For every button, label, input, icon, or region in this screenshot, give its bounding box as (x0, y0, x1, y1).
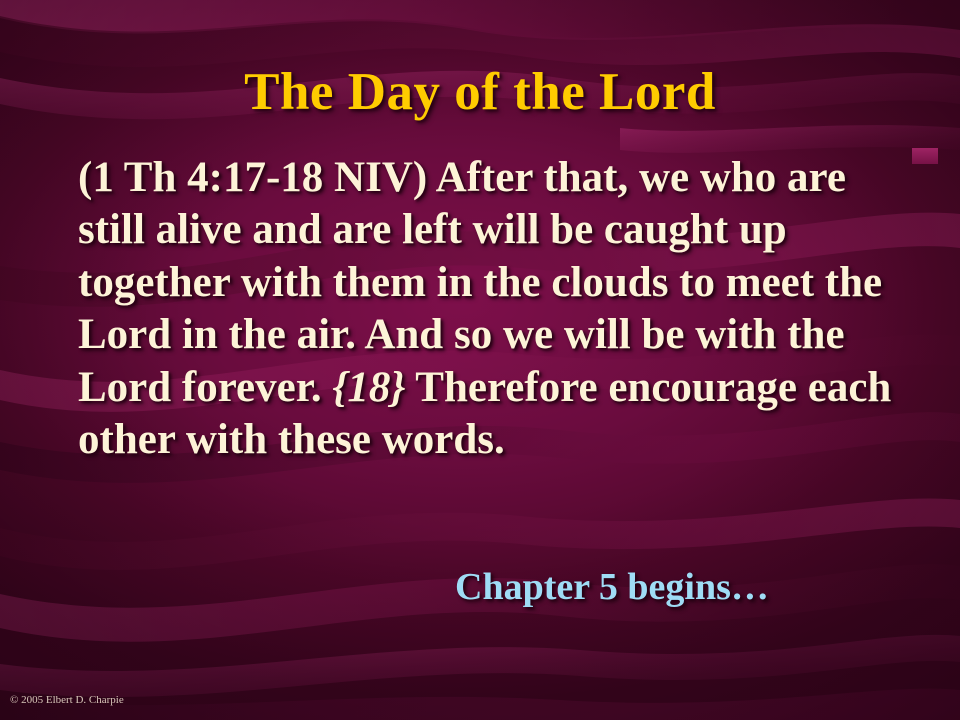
chapter-note: Chapter 5 begins… (455, 565, 769, 609)
slide-content: The Day of the Lord (1 Th 4:17-18 NIV) A… (0, 0, 960, 720)
slide-body: (1 Th 4:17-18 NIV) After that, we who ar… (78, 152, 893, 467)
presentation-slide: The Day of the Lord (1 Th 4:17-18 NIV) A… (0, 0, 960, 720)
scripture-text: (1 Th 4:17-18 NIV) After that, we who ar… (78, 152, 893, 467)
verse-number-marker: {18} (332, 364, 405, 411)
copyright-notice: © 2005 Elbert D. Charpie (10, 694, 124, 706)
slide-title: The Day of the Lord (0, 62, 960, 122)
